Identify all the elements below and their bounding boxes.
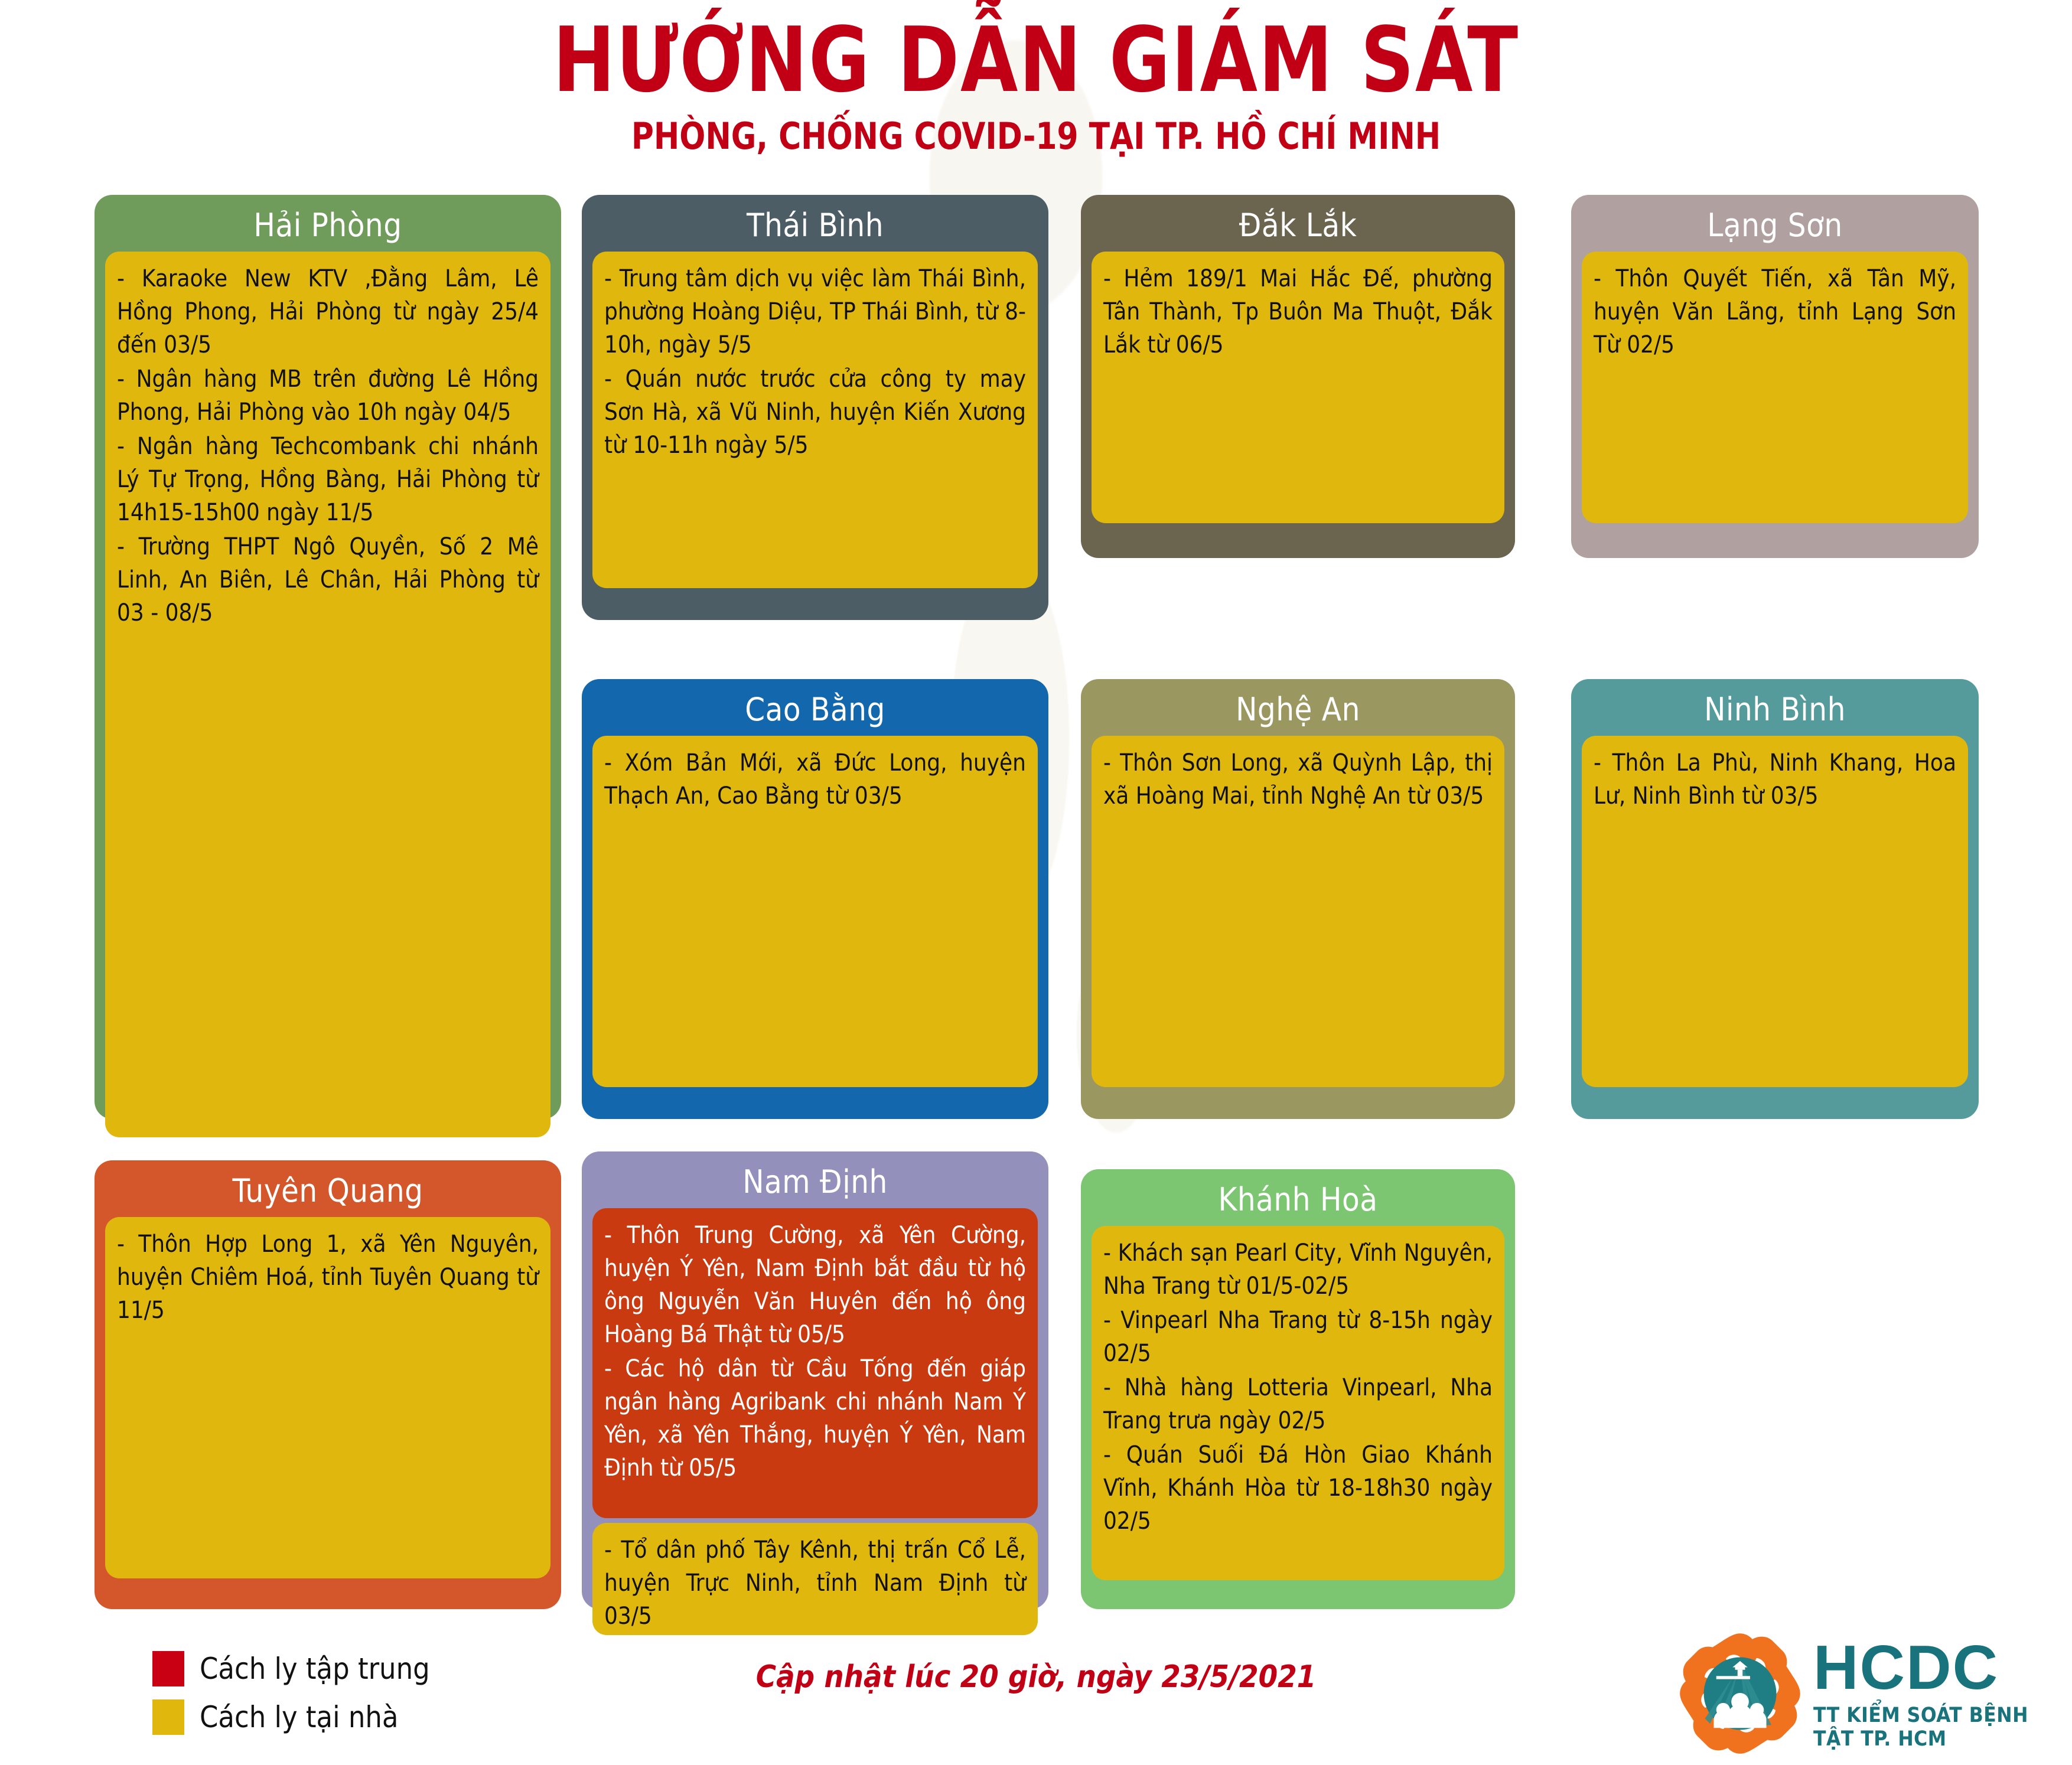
hcdc-logo: HCDC TT KIỂM SOÁT BỆNH TẬT TP. HCM xyxy=(1677,1630,2044,1757)
page-title: HƯỚNG DẪN GIÁM SÁT xyxy=(83,15,1989,105)
location-item: - Ngân hàng MB trên đường Lê Hồng Phong,… xyxy=(117,363,539,429)
location-list-yellow: - Thôn Sơn Long, xã Quỳnh Lập, thị xã Ho… xyxy=(1092,736,1504,1087)
hcdc-emblem-icon xyxy=(1677,1631,1803,1756)
province-card-khanh-hoa: Khánh Hoà- Khách sạn Pearl City, Vĩnh Ng… xyxy=(1081,1169,1515,1609)
location-item: - Thôn Trung Cường, xã Yên Cường, huyện … xyxy=(604,1219,1026,1351)
province-card-title: Ninh Bình xyxy=(1571,679,1979,731)
location-item: - Karaoke New KTV ,Đằng Lâm, Lê Hồng Pho… xyxy=(117,262,539,361)
location-item: - Thôn Quyết Tiến, xã Tân Mỹ, huyện Văn … xyxy=(1594,262,1956,361)
province-card-thai-binh: Thái Bình- Trung tâm dịch vụ việc làm Th… xyxy=(582,195,1048,620)
province-card-title: Nghệ An xyxy=(1081,679,1515,731)
province-card-title: Lạng Sơn xyxy=(1571,195,1979,247)
hcdc-subtitle: TT KIỂM SOÁT BỆNH TẬT TP. HCM xyxy=(1813,1704,2044,1751)
location-item: - Xóm Bản Mới, xã Đức Long, huyện Thạch … xyxy=(604,746,1026,813)
location-list-red: - Thôn Trung Cường, xã Yên Cường, huyện … xyxy=(592,1208,1038,1518)
location-item: - Tổ dân phố Tây Kênh, thị trấn Cổ Lễ, h… xyxy=(604,1534,1026,1633)
province-card-title: Khánh Hoà xyxy=(1081,1169,1515,1221)
location-list-yellow: - Tổ dân phố Tây Kênh, thị trấn Cổ Lễ, h… xyxy=(592,1523,1038,1635)
province-card-title: Thái Bình xyxy=(582,195,1048,247)
page-subtitle: PHÒNG, CHỐNG COVID-19 TẠI TP. HỒ CHÍ MIN… xyxy=(73,118,1999,155)
province-card-nam-dinh: Nam Định- Thôn Trung Cường, xã Yên Cường… xyxy=(582,1151,1048,1609)
province-card-title: Nam Định xyxy=(582,1151,1048,1203)
location-list-yellow: - Thôn Quyết Tiến, xã Tân Mỹ, huyện Văn … xyxy=(1582,252,1968,523)
location-item: - Thôn La Phù, Ninh Khang, Hoa Lư, Ninh … xyxy=(1594,746,1956,813)
location-list-yellow: - Thôn Hợp Long 1, xã Yên Nguyên, huyện … xyxy=(105,1217,550,1578)
province-card-tuyen-quang: Tuyên Quang- Thôn Hợp Long 1, xã Yên Ngu… xyxy=(95,1160,561,1609)
location-list-yellow: - Thôn La Phù, Ninh Khang, Hoa Lư, Ninh … xyxy=(1582,736,1968,1087)
province-card-title: Đắk Lắk xyxy=(1081,195,1515,247)
hcdc-acronym: HCDC xyxy=(1813,1636,2044,1699)
location-item: - Quán nước trước cửa công ty may Sơn Hà… xyxy=(604,363,1026,462)
location-item: - Trung tâm dịch vụ việc làm Thái Bình, … xyxy=(604,262,1026,361)
province-card-ninh-binh: Ninh Bình- Thôn La Phù, Ninh Khang, Hoa … xyxy=(1571,679,1979,1119)
location-item: - Hẻm 189/1 Mai Hắc Đế, phường Tân Thành… xyxy=(1103,262,1493,361)
province-card-nghe-an: Nghệ An- Thôn Sơn Long, xã Quỳnh Lập, th… xyxy=(1081,679,1515,1119)
location-list-yellow: - Karaoke New KTV ,Đằng Lâm, Lê Hồng Pho… xyxy=(105,252,550,1137)
location-item: - Vinpearl Nha Trang từ 8-15h ngày 02/5 xyxy=(1103,1304,1493,1370)
province-card-title: Hải Phòng xyxy=(95,195,561,247)
province-card-hai-phong: Hải Phòng- Karaoke New KTV ,Đằng Lâm, Lê… xyxy=(95,195,561,1119)
location-list-yellow: - Hẻm 189/1 Mai Hắc Đế, phường Tân Thành… xyxy=(1092,252,1504,523)
location-list-yellow: - Trung tâm dịch vụ việc làm Thái Bình, … xyxy=(592,252,1038,588)
legend-swatch-home xyxy=(152,1699,184,1735)
location-item: - Nhà hàng Lotteria Vinpearl, Nha Trang … xyxy=(1103,1371,1493,1437)
location-list-yellow: - Xóm Bản Mới, xã Đức Long, huyện Thạch … xyxy=(592,736,1038,1087)
location-item: - Các hộ dân từ Cầu Tống đến giáp ngân h… xyxy=(604,1352,1026,1485)
province-card-cao-bang: Cao Bằng- Xóm Bản Mới, xã Đức Long, huyệ… xyxy=(582,679,1048,1119)
legend-label-home: Cách ly tại nhà xyxy=(200,1700,398,1734)
province-card-lang-son: Lạng Sơn- Thôn Quyết Tiến, xã Tân Mỹ, hu… xyxy=(1571,195,1979,558)
location-item: - Quán Suối Đá Hòn Giao Khánh Vĩnh, Khán… xyxy=(1103,1438,1493,1538)
location-item: - Khách sạn Pearl City, Vĩnh Nguyên, Nha… xyxy=(1103,1237,1493,1303)
province-card-title: Cao Bằng xyxy=(582,679,1048,731)
location-list-yellow: - Khách sạn Pearl City, Vĩnh Nguyên, Nha… xyxy=(1092,1226,1504,1580)
page-header: HƯỚNG DẪN GIÁM SÁT PHÒNG, CHỐNG COVID-19… xyxy=(0,15,2072,155)
hcdc-logo-text: HCDC TT KIỂM SOÁT BỆNH TẬT TP. HCM xyxy=(1813,1636,2044,1751)
legend-item-home: Cách ly tại nhà xyxy=(152,1699,430,1735)
location-item: - Thôn Hợp Long 1, xã Yên Nguyên, huyện … xyxy=(117,1228,539,1327)
province-card-dak-lak: Đắk Lắk- Hẻm 189/1 Mai Hắc Đế, phường Tâ… xyxy=(1081,195,1515,558)
location-item: - Thôn Sơn Long, xã Quỳnh Lập, thị xã Ho… xyxy=(1103,746,1493,813)
location-item: - Ngân hàng Techcombank chi nhánh Lý Tự … xyxy=(117,430,539,529)
location-item: - Trường THPT Ngô Quyền, Số 2 Mê Linh, A… xyxy=(117,530,539,629)
province-card-title: Tuyên Quang xyxy=(95,1160,561,1212)
